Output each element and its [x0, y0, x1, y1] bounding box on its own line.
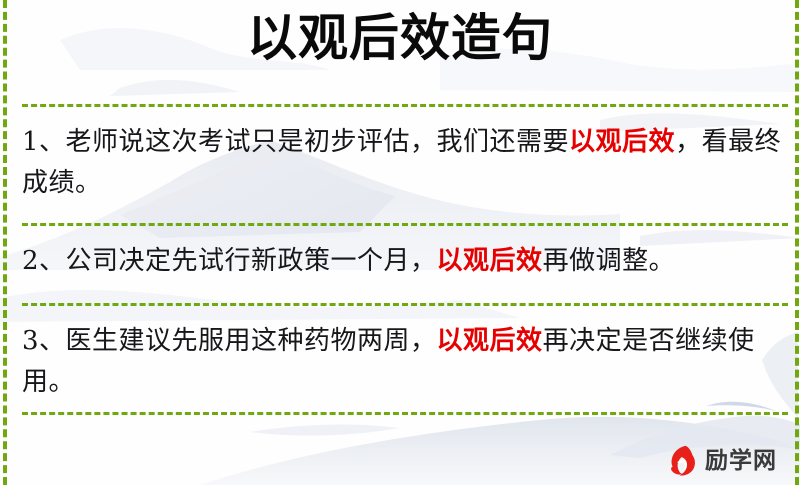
- divider-rule-1: [22, 104, 788, 107]
- divider-rule-2: [22, 223, 788, 226]
- divider-rule-3: [22, 303, 788, 306]
- sentence-3-idiom: 以观后效: [437, 326, 543, 356]
- sentence-2-idiom: 以观后效: [437, 246, 543, 276]
- sentence-2-before: 2、公司决定先试行新政策一个月，: [22, 246, 437, 276]
- divider-rule-4: [22, 412, 788, 415]
- sentence-2-after: 再做调整。: [543, 246, 676, 276]
- example-sentence-2: 2、公司决定先试行新政策一个月，以观后效再做调整。: [22, 241, 782, 282]
- page-title: 以观后效造句: [0, 8, 800, 68]
- flame-swirl-logo-icon: [662, 442, 700, 480]
- site-watermark: 励学网: [662, 441, 784, 481]
- left-dashed-border: [3, 0, 7, 485]
- example-sentence-1: 1、老师说这次考试只是初步评估，我们还需要以观后效，看最终成绩。: [22, 122, 782, 204]
- sentence-3-before: 3、医生建议先服用这种药物两周，: [22, 326, 437, 356]
- sentence-1-before: 1、老师说这次考试只是初步评估，我们还需要: [22, 127, 569, 157]
- brand-name: 励学网: [705, 450, 777, 473]
- example-sentence-3: 3、医生建议先服用这种药物两周，以观后效再决定是否继续使用。: [22, 321, 782, 403]
- worksheet-page: 以观后效造句 1、老师说这次考试只是初步评估，我们还需要以观后效，看最终成绩。 …: [0, 0, 800, 485]
- right-dashed-border: [795, 0, 799, 485]
- sentence-1-idiom: 以观后效: [569, 127, 675, 157]
